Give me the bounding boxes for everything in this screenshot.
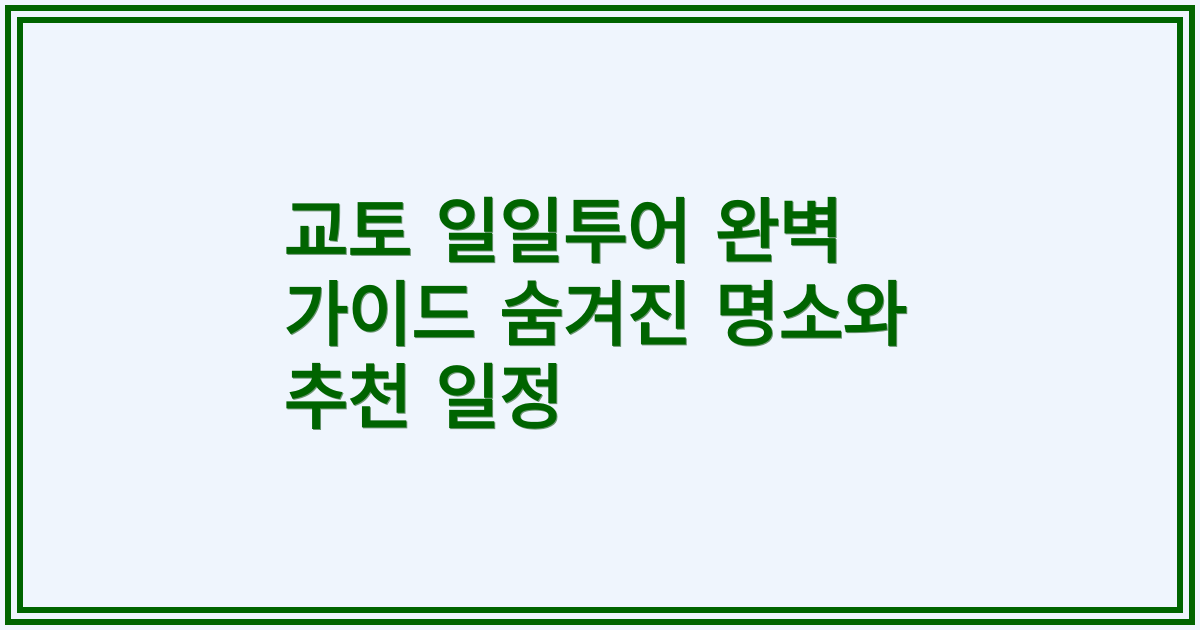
page-title: 교토 일일투어 완벽 가이드 숨겨진 명소와 추천 일정	[23, 191, 923, 440]
content-area: 교토 일일투어 완벽 가이드 숨겨진 명소와 추천 일정	[23, 23, 1177, 607]
thumbnail-card: 교토 일일투어 완벽 가이드 숨겨진 명소와 추천 일정	[0, 0, 1200, 630]
